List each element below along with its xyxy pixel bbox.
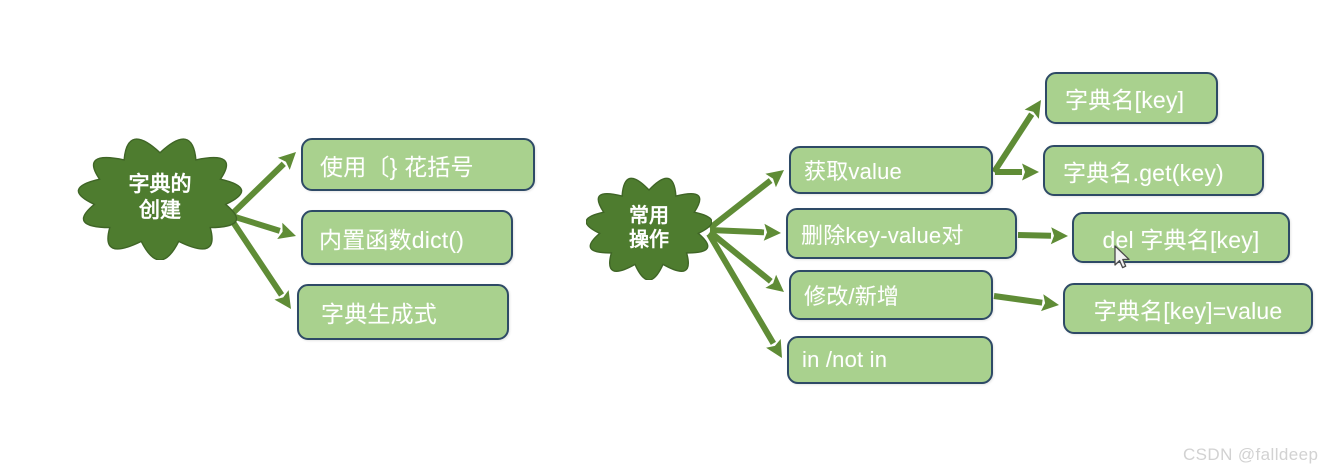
box-dictname-key[interactable]: 字典名[key] xyxy=(1045,72,1218,124)
box-dictname-key-assign[interactable]: 字典名[key]=value xyxy=(1063,283,1313,334)
arrow-ops-to-delete xyxy=(710,224,781,241)
arrow-ops-to-delete-shaft xyxy=(710,230,764,232)
arrow-create-to-comprehension-head xyxy=(275,290,292,309)
csdn-watermark: CSDN @falldeep xyxy=(1183,445,1318,465)
arrow-getvalue-to-key xyxy=(994,100,1041,172)
arrow-delete-to-del xyxy=(1018,227,1068,244)
box-delete-pair-label: 删除key-value对 xyxy=(801,218,1015,250)
box-get-value-label: 获取value xyxy=(804,154,991,186)
box-in-notin[interactable]: in /not in xyxy=(787,336,993,384)
box-modify-add[interactable]: 修改/新增 xyxy=(789,270,993,320)
box-dictname-get[interactable]: 字典名.get(key) xyxy=(1043,145,1264,196)
arrow-getvalue-to-key-head xyxy=(1025,100,1041,119)
cloud-common-ops[interactable]: 常用 操作 xyxy=(586,176,712,280)
arrow-ops-to-modify xyxy=(710,232,784,292)
arrow-getvalue-to-key-shaft xyxy=(994,114,1032,172)
arrow-ops-to-modify-shaft xyxy=(710,232,771,281)
arrow-delete-to-del-head xyxy=(1051,227,1068,244)
box-dict-builtin-label: 内置函数dict() xyxy=(319,221,511,255)
box-del-dictname-key-label: del 字典名[key] xyxy=(1074,221,1288,255)
box-dictname-get-label: 字典名.get(key) xyxy=(1063,154,1262,188)
arrow-getvalue-to-get-head xyxy=(1022,164,1039,181)
cloud-dict-create[interactable]: 字典的 创建 xyxy=(76,136,244,260)
arrow-modify-to-assign-shaft xyxy=(994,296,1042,303)
box-brace-literal-label: 使用〔} 花括号 xyxy=(320,148,533,182)
arrow-ops-to-modify-head xyxy=(765,275,784,292)
arrow-ops-to-getvalue-head xyxy=(765,170,784,187)
arrow-ops-to-getvalue xyxy=(710,170,784,228)
arrow-create-to-builtin-head xyxy=(277,223,296,239)
box-delete-pair[interactable]: 删除key-value对 xyxy=(786,208,1017,259)
box-get-value[interactable]: 获取value xyxy=(789,146,993,194)
box-in-notin-label: in /not in xyxy=(802,347,991,373)
arrow-ops-to-innotin-shaft xyxy=(709,234,773,343)
box-dictname-key-label: 字典名[key] xyxy=(1065,81,1216,115)
box-dict-comprehension-label: 字典生成式 xyxy=(321,295,507,329)
arrow-modify-to-assign xyxy=(994,294,1059,311)
diagram-canvas: 字典的 创建常用 操作 使用〔} 花括号内置函数dict()字典生成式获取val… xyxy=(0,0,1343,475)
arrow-create-to-brace-head xyxy=(278,152,296,170)
cloud-dict-create-label: 字典的 创建 xyxy=(129,172,192,223)
box-del-dictname-key[interactable]: del 字典名[key] xyxy=(1072,212,1290,263)
box-brace-literal[interactable]: 使用〔} 花括号 xyxy=(301,138,535,191)
arrow-getvalue-to-get xyxy=(995,164,1039,181)
arrow-delete-to-del-shaft xyxy=(1018,235,1051,236)
arrow-ops-to-getvalue-shaft xyxy=(710,181,771,229)
cloud-common-ops-label: 常用 操作 xyxy=(629,204,669,253)
box-modify-add-label: 修改/新增 xyxy=(804,279,991,311)
arrow-modify-to-assign-head xyxy=(1041,294,1059,311)
arrow-ops-to-innotin-head xyxy=(766,339,782,358)
arrow-ops-to-delete-head xyxy=(764,224,781,241)
box-dict-builtin[interactable]: 内置函数dict() xyxy=(301,210,513,265)
arrow-ops-to-innotin xyxy=(709,234,782,358)
box-dict-comprehension[interactable]: 字典生成式 xyxy=(297,284,509,340)
box-dictname-key-assign-label: 字典名[key]=value xyxy=(1065,292,1311,326)
